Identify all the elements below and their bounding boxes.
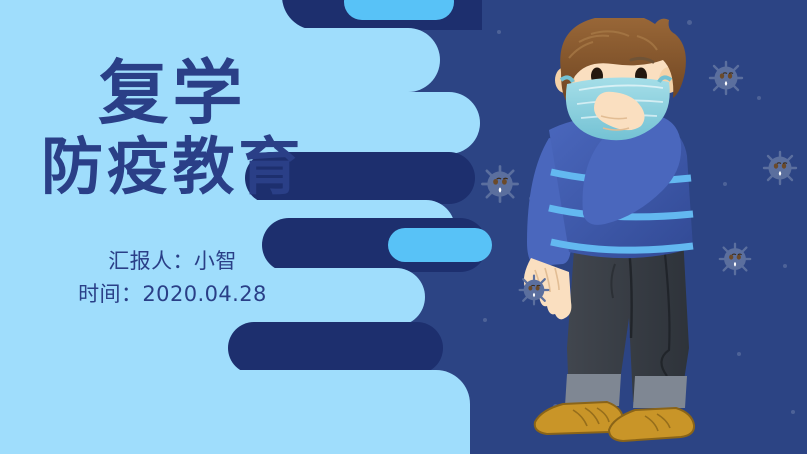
decor-dot (783, 264, 787, 268)
date-line: 时间：2020.04.28 (0, 278, 345, 312)
virus-particle (516, 272, 552, 308)
wave-finger-navy (228, 322, 443, 374)
wave-finger-light (180, 370, 470, 454)
cyan-accent-pill (388, 228, 492, 262)
slide-subtitle-block: 汇报人：小智 时间：2020.04.28 (0, 245, 345, 312)
shoes (535, 402, 694, 441)
virus-particle (478, 162, 522, 206)
decor-dot (757, 96, 761, 100)
cyan-accent-pill (344, 0, 454, 20)
virus-particle (716, 240, 754, 278)
decor-dot (791, 410, 795, 414)
virus-particle (706, 58, 746, 98)
slide-title-line-1: 复学 (0, 56, 345, 132)
presentation-slide: 复学 防疫教育 汇报人：小智 时间：2020.04.28 (0, 0, 807, 454)
title-text-block: 复学 防疫教育 汇报人：小智 时间：2020.04.28 (0, 56, 345, 312)
presenter-line: 汇报人：小智 (0, 245, 345, 279)
virus-particle (760, 148, 800, 188)
slide-title-line-2: 防疫教育 (0, 134, 345, 201)
